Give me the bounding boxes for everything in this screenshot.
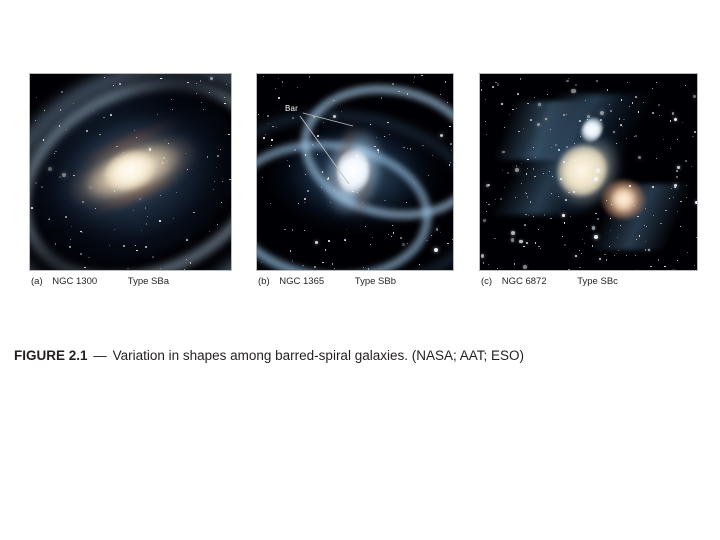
panel-tag-a: (a) bbox=[31, 275, 43, 289]
figure-label: FIGURE 2.1 bbox=[14, 348, 88, 363]
galaxy-image-ngc-1365: Bar bbox=[257, 74, 453, 270]
panel-caption-row: (a) NGC 1300 Type SBa (b) NGC 1365 Type … bbox=[30, 275, 697, 297]
galaxy-image-ngc-6872 bbox=[480, 74, 697, 270]
figure-dash: — bbox=[93, 348, 107, 363]
panel-name-a: NGC 1300 bbox=[52, 275, 97, 289]
galaxy-image-ngc-1300 bbox=[30, 74, 231, 270]
panel-tag-c: (c) bbox=[481, 275, 492, 289]
panel-type-b: Type SBb bbox=[355, 275, 396, 289]
sky-background-a bbox=[30, 74, 231, 270]
panel-type-a: Type SBa bbox=[128, 275, 169, 289]
panel-caption-c: (c) NGC 6872 Type SBc bbox=[481, 275, 618, 289]
sky-background-c bbox=[480, 74, 697, 270]
panel-caption-a: (a) NGC 1300 Type SBa bbox=[31, 275, 169, 289]
panel-name-c: NGC 6872 bbox=[502, 275, 547, 289]
galaxy-panel-row: Bar bbox=[30, 74, 697, 270]
panel-name-b: NGC 1365 bbox=[279, 275, 324, 289]
panel-type-c: Type SBc bbox=[577, 275, 618, 289]
figure-block: Bar (a) NGC 1300 Type SBa (b) NGC 1365 T… bbox=[30, 74, 697, 297]
panel-caption-b: (b) NGC 1365 Type SBb bbox=[258, 275, 396, 289]
bar-annotation-label: Bar bbox=[285, 105, 298, 113]
figure-caption: FIGURE 2.1 — Variation in shapes among b… bbox=[14, 347, 704, 365]
figure-caption-text: Variation in shapes among barred-spiral … bbox=[113, 348, 524, 363]
panel-tag-b: (b) bbox=[258, 275, 270, 289]
